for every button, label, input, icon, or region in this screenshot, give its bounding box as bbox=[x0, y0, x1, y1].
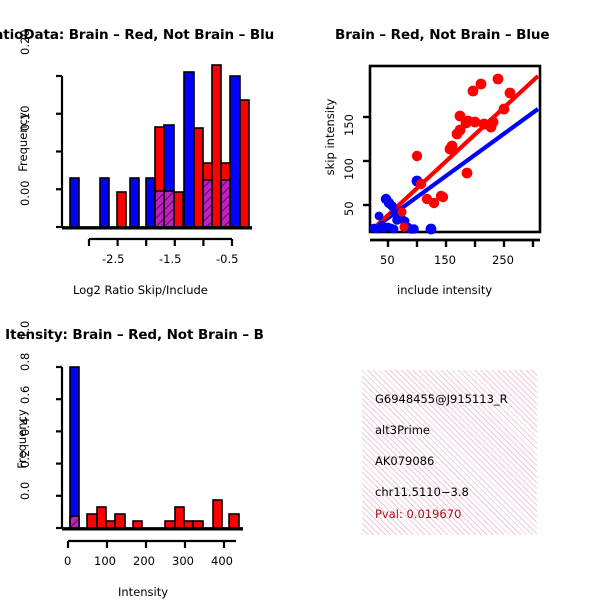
annotation-box: G6948455@J915113_R alt3Prime AK079086 ch… bbox=[362, 370, 537, 535]
ratio-histogram-plot bbox=[0, 0, 300, 300]
ratio-hist-ytick-10: 0.10 bbox=[18, 105, 32, 131]
scatter-xtick-250: 250 bbox=[492, 253, 514, 267]
panel-scatter: Brain – Red, Not Brain – Blue skip inten… bbox=[300, 0, 600, 300]
panel-ratio-histogram: RatioData: Brain – Red, Not Brain – Blu … bbox=[0, 0, 300, 300]
scatter-xtick-50: 50 bbox=[380, 253, 395, 267]
intensity-hist-xtick-100: 100 bbox=[94, 554, 116, 568]
intensity-hist-xtick-400: 400 bbox=[211, 554, 233, 568]
ratio-hist-xtick-5: -0.5 bbox=[216, 252, 238, 266]
panel-intensity-histogram: ne Itensity: Brain – Red, Not Brain – B … bbox=[0, 300, 300, 600]
ratio-hist-ytick-20: 0.20 bbox=[18, 29, 32, 55]
info-line-coordinates: chr11.5110−3.8 bbox=[375, 485, 469, 499]
ratio-hist-xtick-3: -1.5 bbox=[159, 252, 181, 266]
scatter-ytick-150: 150 bbox=[342, 114, 356, 136]
ratio-hist-ytick-0: 0.00 bbox=[18, 180, 32, 206]
intensity-hist-ytick-0: 0.0 bbox=[18, 482, 32, 500]
intensity-hist-ytick-06: 0.6 bbox=[18, 386, 32, 404]
panel-info: G6948455@J915113_R alt3Prime AK079086 ch… bbox=[300, 300, 600, 600]
info-line-probe-id: G6948455@J915113_R bbox=[375, 392, 508, 406]
info-line-pvalue: Pval: 0.019670 bbox=[375, 507, 461, 521]
scatter-ytick-50: 50 bbox=[342, 201, 356, 216]
info-line-event-type: alt3Prime bbox=[375, 423, 430, 437]
intensity-hist-ytick-08: 0.8 bbox=[18, 353, 32, 371]
ratio-hist-xtick-1: -2.5 bbox=[102, 252, 124, 266]
intensity-hist-ytick-10: 1.0 bbox=[18, 321, 32, 339]
intensity-hist-xtick-300: 300 bbox=[172, 554, 194, 568]
info-line-accession: AK079086 bbox=[375, 454, 434, 468]
intensity-hist-xtick-0: 0 bbox=[64, 554, 71, 568]
intensity-hist-xtick-200: 200 bbox=[133, 554, 155, 568]
scatter-ytick-100: 100 bbox=[342, 158, 356, 180]
intensity-hist-ytick-04: 0.4 bbox=[18, 418, 32, 436]
intensity-hist-ytick-02: 0.2 bbox=[18, 450, 32, 468]
scatter-xtick-150: 150 bbox=[434, 253, 456, 267]
